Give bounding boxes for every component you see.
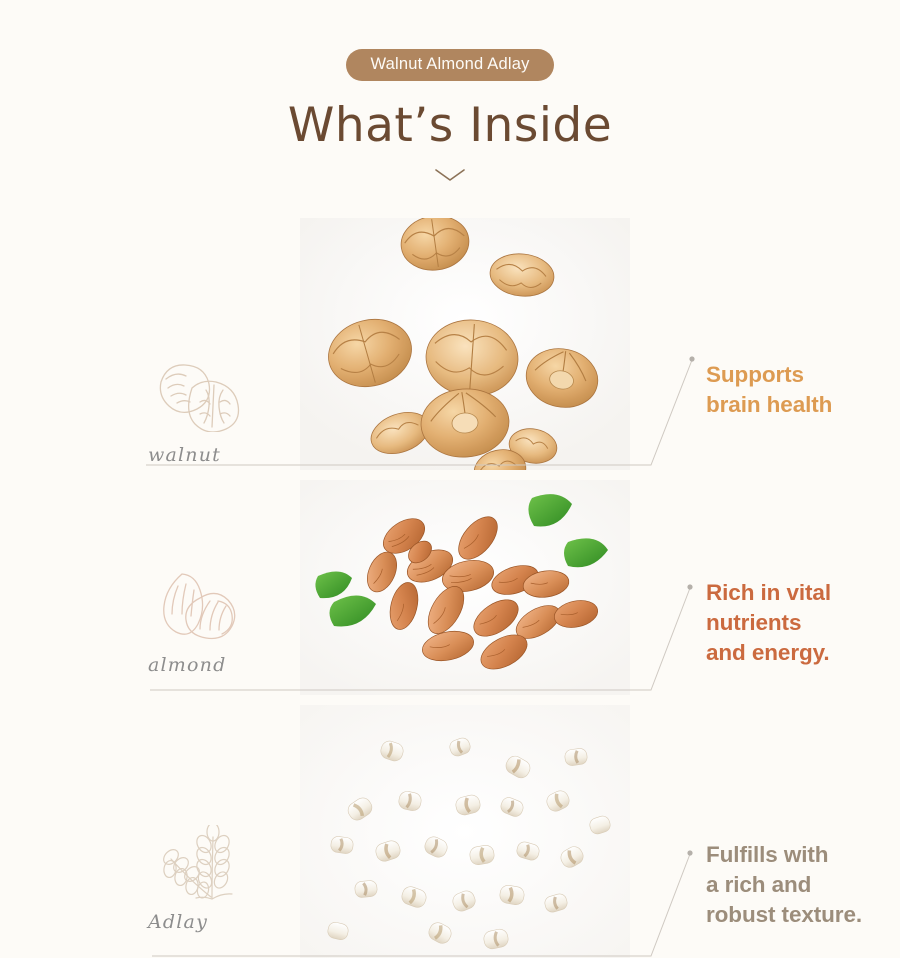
adlay-benefit-text: Fulfills with a rich and robust texture. — [706, 840, 896, 930]
adlay-caption: Adlay — [148, 911, 298, 933]
product-badge: Walnut Almond Adlay — [346, 49, 553, 81]
adlay-label-group: Adlay — [148, 825, 298, 933]
benefit-line: Supports — [706, 360, 896, 390]
walnut-outline-icon — [148, 358, 298, 436]
page-header: Walnut Almond Adlay What’s Inside — [0, 0, 900, 186]
page-title: What’s Inside — [0, 101, 900, 150]
benefit-line: a rich and — [706, 870, 896, 900]
ingredient-section-adlay: Adlay Fulfills with a rich and robust te… — [0, 695, 900, 958]
almond-caption: almond — [148, 654, 298, 676]
almond-label-group: almond — [148, 568, 298, 676]
almond-benefit-text: Rich in vital nutrients and energy. — [706, 578, 896, 668]
chevron-down-icon — [0, 166, 900, 186]
benefit-line: nutrients — [706, 608, 896, 638]
almonds-with-leaves-photo — [300, 480, 630, 695]
benefit-line: brain health — [706, 390, 896, 420]
ingredient-section-walnut: walnut Supports brain health — [0, 210, 900, 470]
benefit-line: Rich in vital — [706, 578, 896, 608]
adlay-job-tears-grains-photo — [300, 705, 630, 958]
adlay-grain-stalks-icon — [148, 825, 298, 903]
almond-outline-icon — [148, 568, 298, 646]
benefit-line: and energy. — [706, 638, 896, 668]
walnut-caption: walnut — [148, 444, 298, 466]
walnut-label-group: walnut — [148, 358, 298, 466]
walnut-benefit-text: Supports brain health — [706, 360, 896, 420]
ingredient-section-almond: almond Rich in vital nutrients and energ… — [0, 470, 900, 695]
walnut-halves-photo — [300, 218, 630, 470]
benefit-line: robust texture. — [706, 900, 896, 930]
benefit-line: Fulfills with — [706, 840, 896, 870]
